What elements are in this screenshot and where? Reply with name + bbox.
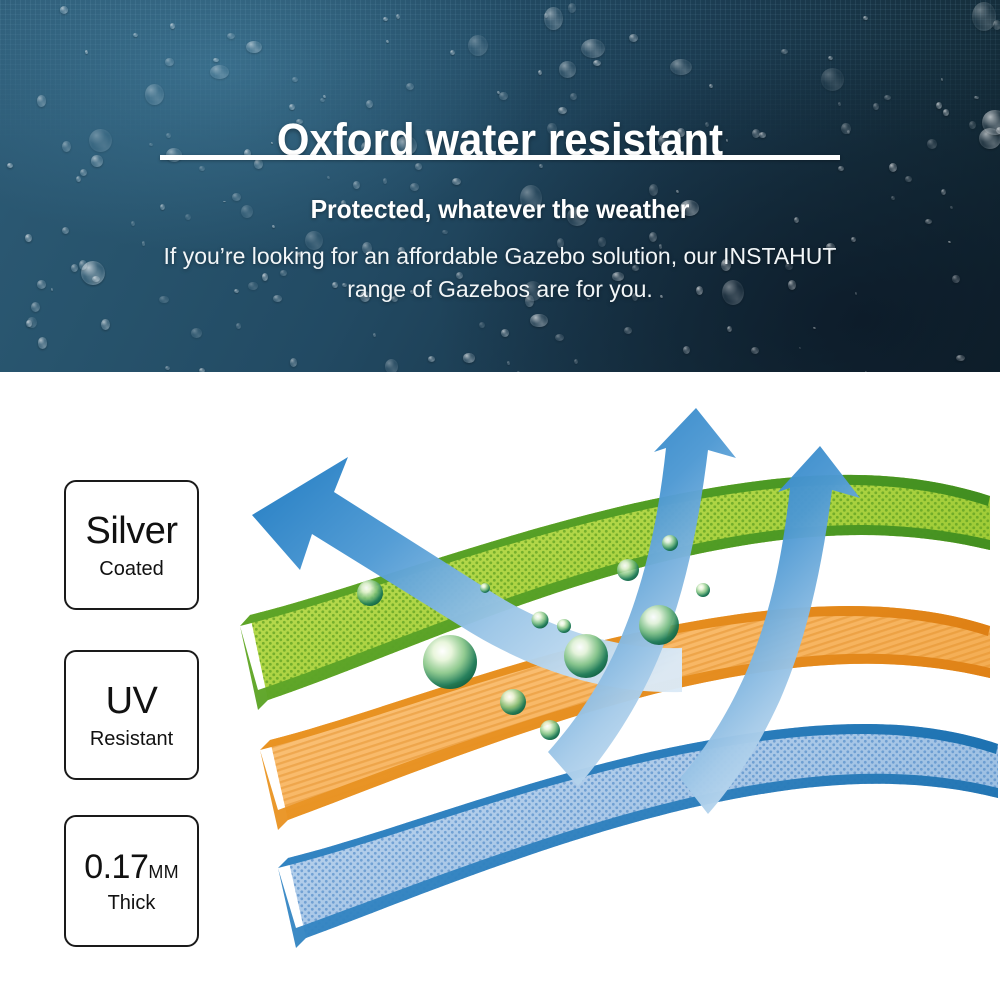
- feature-box-2-main: UV: [106, 682, 158, 720]
- feature-box-3-sub: Thick: [108, 893, 156, 913]
- droplet: [500, 689, 526, 715]
- feature-box-1-sub: Coated: [99, 559, 164, 579]
- droplet: [564, 634, 608, 678]
- droplet: [696, 583, 710, 597]
- feature-box-1-main: Silver: [85, 512, 177, 550]
- product-feature-banner: Oxford water resistant Protected, whatev…: [0, 0, 1000, 1000]
- feature-box-2-sub: Resistant: [90, 729, 173, 749]
- droplet: [540, 720, 560, 740]
- feature-box-silver-coated: Silver Coated: [64, 480, 199, 610]
- fabric-layers-illustration: [230, 400, 1000, 1000]
- droplet: [357, 580, 383, 606]
- droplet: [617, 559, 639, 581]
- feature-box-thickness: 0.17MM Thick: [64, 815, 199, 947]
- arrow-breathability-mid: [548, 408, 736, 786]
- hero-section: Oxford water resistant Protected, whatev…: [0, 0, 1000, 372]
- droplet: [639, 605, 679, 645]
- feature-box-3-main: 0.17: [84, 848, 148, 886]
- droplet: [662, 535, 678, 551]
- droplet: [423, 635, 477, 689]
- hero-subtitle: Protected, whatever the weather: [25, 194, 975, 225]
- hero-description: If you’re looking for an affordable Gaze…: [150, 240, 850, 306]
- droplet: [480, 583, 490, 593]
- title-divider: [160, 155, 840, 160]
- feature-box-3-unit: MM: [148, 862, 178, 882]
- droplet: [557, 619, 571, 633]
- droplet: [532, 612, 549, 629]
- feature-box-3-main-row: 0.17MM: [84, 850, 179, 884]
- feature-box-uv-resistant: UV Resistant: [64, 650, 199, 780]
